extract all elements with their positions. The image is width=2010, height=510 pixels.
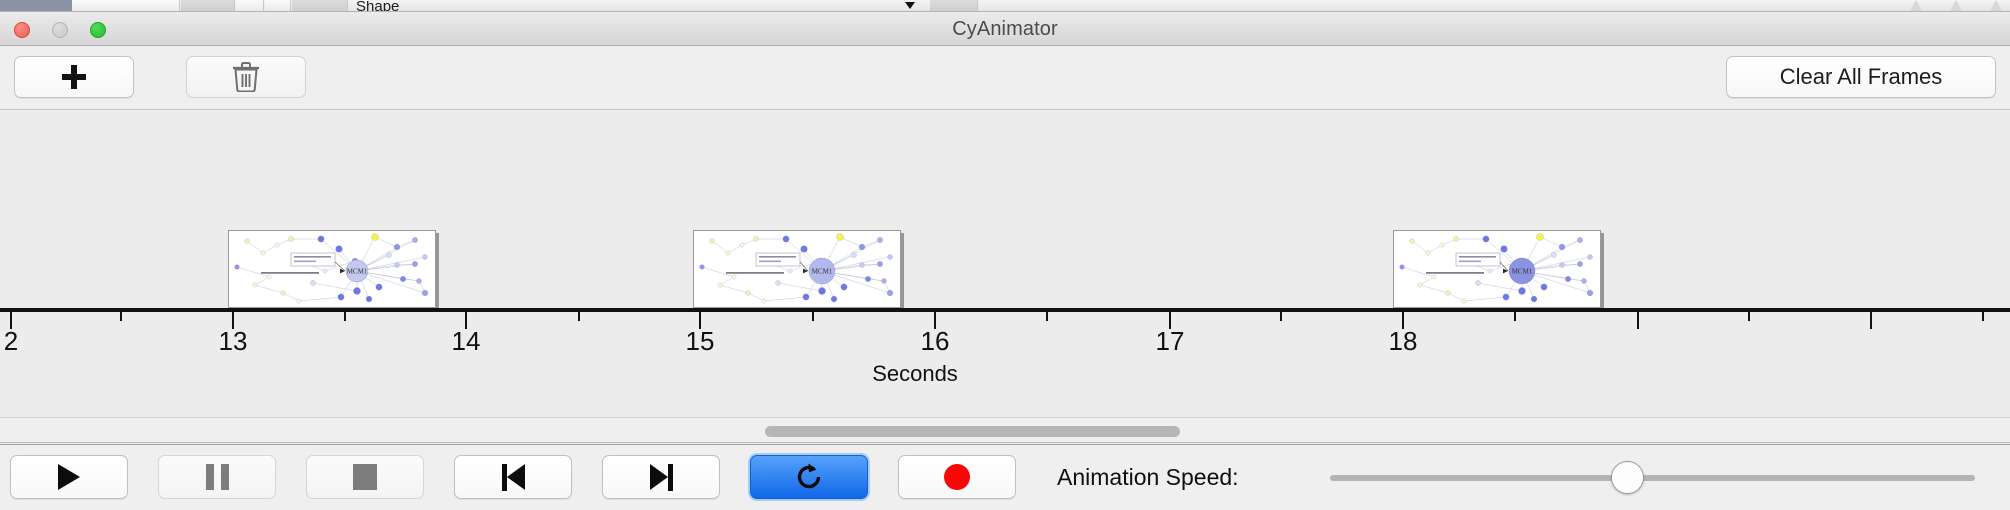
keyframe-thumbnail[interactable]: MCM1 xyxy=(1393,230,1601,308)
axis-title-text: Seconds xyxy=(872,361,958,386)
background-window-triangle-icon xyxy=(1990,0,2002,11)
plus-icon xyxy=(62,65,86,89)
axis-tick-label: 13 xyxy=(219,326,248,357)
previous-frame-button[interactable] xyxy=(454,455,572,499)
network-thumbnail: MCM1 xyxy=(229,231,435,307)
network-thumbnail: MCM1 xyxy=(1394,231,1600,307)
clear-all-frames-label: Clear All Frames xyxy=(1780,64,1943,90)
axis-tick xyxy=(1748,311,1750,321)
axis-tick-label: 18 xyxy=(1389,326,1418,357)
add-frame-button[interactable] xyxy=(14,56,134,98)
animation-speed-slider[interactable] xyxy=(1330,475,1975,481)
timeline-panel[interactable]: MCM1MCM1MCM1 2131415161718 Seconds xyxy=(0,111,2010,417)
keyframe-thumbnail[interactable]: MCM1 xyxy=(228,230,436,308)
record-button[interactable] xyxy=(898,455,1016,499)
keyframe-thumbnail[interactable]: MCM1 xyxy=(693,230,901,308)
scrollbar-thumb[interactable] xyxy=(765,426,1180,437)
stop-icon xyxy=(353,464,377,490)
background-window-arrow-icon xyxy=(905,2,915,9)
play-icon xyxy=(58,464,80,490)
axis-tick xyxy=(1982,311,1984,321)
background-window-segment xyxy=(181,0,235,11)
axis-title: Seconds xyxy=(0,361,2010,387)
trash-icon xyxy=(232,62,260,92)
skip-forward-icon xyxy=(650,464,673,491)
hub-node-label: MCM1 xyxy=(812,268,833,276)
axis-tick xyxy=(1637,311,1639,329)
delete-frame-button[interactable] xyxy=(186,56,306,98)
loop-icon xyxy=(794,462,824,492)
keyframes-track[interactable]: MCM1MCM1MCM1 xyxy=(0,111,2010,308)
next-frame-button[interactable] xyxy=(602,455,720,499)
background-window-label: Shape xyxy=(356,1,399,12)
background-window-selected-tab xyxy=(0,0,72,11)
background-window-segment xyxy=(72,0,180,11)
animation-speed-label: Animation Speed: xyxy=(1057,455,1239,499)
network-thumbnail: MCM1 xyxy=(694,231,900,307)
axis-tick xyxy=(1514,311,1516,321)
window-title: CyAnimator xyxy=(0,12,2010,46)
stop-button[interactable] xyxy=(306,455,424,499)
record-icon xyxy=(944,464,970,490)
axis-tick xyxy=(344,311,346,321)
slider-track[interactable] xyxy=(1330,475,1975,481)
toolbar: Clear All Frames xyxy=(0,46,2010,110)
pause-button[interactable] xyxy=(158,455,276,499)
background-window-segment xyxy=(930,0,978,11)
slider-thumb[interactable] xyxy=(1611,461,1644,494)
horizontal-scrollbar[interactable] xyxy=(0,417,2010,443)
background-window-segment xyxy=(236,0,264,11)
timeline-axis xyxy=(0,308,2010,312)
axis-tick xyxy=(1280,311,1282,321)
axis-tick xyxy=(120,311,122,321)
axis-tick-label: 14 xyxy=(452,326,481,357)
playback-toolbar: Animation Speed: xyxy=(0,444,2010,510)
titlebar: CyAnimator xyxy=(0,12,2010,46)
skip-back-icon xyxy=(502,464,525,491)
axis-tick-label: 16 xyxy=(921,326,950,357)
axis-tick xyxy=(1870,311,1872,329)
axis-tick-label: 15 xyxy=(686,326,715,357)
loop-button[interactable] xyxy=(750,455,868,499)
axis-tick-label: 2 xyxy=(4,326,18,357)
hub-node-label: MCM1 xyxy=(347,268,368,276)
axis-tick-label: 17 xyxy=(1156,326,1185,357)
pause-icon xyxy=(206,464,229,490)
background-window-segment xyxy=(292,0,348,11)
axis-tick xyxy=(812,311,814,321)
background-window-triangle-icon xyxy=(1910,0,1922,11)
background-window-strip: Shape xyxy=(0,0,2010,12)
cyanimator-window: Shape CyAnimator Clear All Frames xyxy=(0,0,2010,510)
axis-tick xyxy=(578,311,580,321)
axis-tick xyxy=(1046,311,1048,321)
background-window-triangle-icon xyxy=(1950,0,1962,11)
background-window-segment xyxy=(265,0,291,11)
hub-node-label: MCM1 xyxy=(1512,268,1533,276)
clear-all-frames-button[interactable]: Clear All Frames xyxy=(1726,56,1996,98)
play-button[interactable] xyxy=(10,455,128,499)
